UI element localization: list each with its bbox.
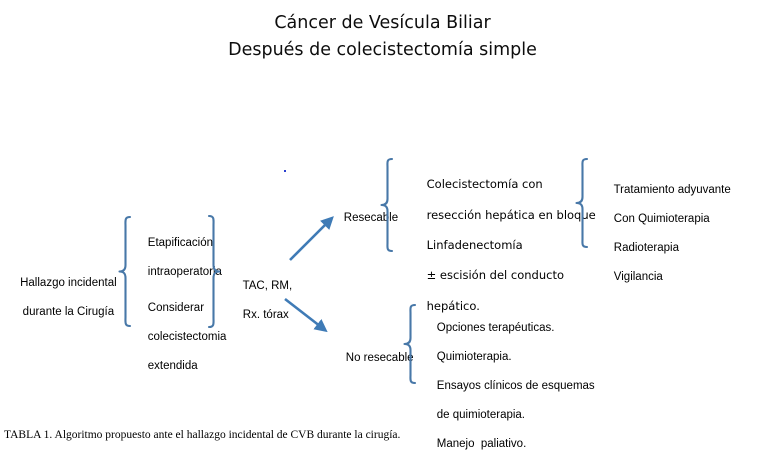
unresectable-line-3: Ensayos clínicos de esquemas bbox=[437, 380, 595, 392]
unresectable-line-4: de quimioterapia. bbox=[437, 409, 525, 421]
figure-caption: TABLA 1. Algoritmo propuesto ante el hal… bbox=[4, 428, 400, 442]
node-extended-cholecystectomy-line-2: colecistectomia bbox=[148, 331, 227, 343]
brace-start-to-intraop bbox=[118, 215, 132, 328]
brace-intraop-to-imaging bbox=[207, 214, 221, 329]
node-adjuvant-treatment: Tratamiento adyuvante Con Quimioterapia … bbox=[601, 168, 761, 299]
label-unresectable: No resecable bbox=[333, 336, 411, 380]
node-incidental-finding: Hallazgo incidental durante la Cirugía bbox=[4, 261, 120, 334]
node-incidental-finding-line-1: Hallazgo incidental bbox=[20, 277, 117, 289]
resectable-detail-line-2: resección hepática en bloque bbox=[427, 208, 596, 222]
brace-unresectable-to-options bbox=[403, 303, 417, 385]
arrow-to-unresectable bbox=[283, 297, 335, 339]
node-intraoperative-staging: Etapificación intraoperatoria bbox=[135, 221, 240, 294]
stray-dot-artifact bbox=[284, 170, 286, 172]
node-extended-cholecystectomy-line-1: Considerar bbox=[148, 302, 204, 314]
title-line-1: Cáncer de Vesícula Biliar bbox=[0, 10, 765, 37]
title-line-2: Después de colecistectomía simple bbox=[0, 37, 765, 64]
node-imaging-workup-line-2: Rx. tórax bbox=[243, 309, 289, 321]
node-intraoperative-staging-line-1: Etapificación bbox=[148, 237, 213, 249]
unresectable-line-1: Opciones terapéuticas. bbox=[437, 322, 555, 334]
brace-surgery-to-adjuvant bbox=[575, 157, 589, 249]
node-resectable-surgery-details: Colecistectomía con resección hepática e… bbox=[412, 162, 592, 329]
node-imaging-workup-line-1: TAC, RM, bbox=[243, 280, 293, 292]
resectable-detail-line-1: Colecistectomía con bbox=[427, 177, 543, 191]
node-unresectable-options: Opciones terapéuticas. Quimioterapia. En… bbox=[424, 306, 614, 466]
node-extended-cholecystectomy: Considerar colecistectomia extendida bbox=[135, 286, 240, 388]
brace-resectable-to-surgery bbox=[380, 157, 394, 253]
adjuvant-line-2: Con Quimioterapia bbox=[614, 213, 710, 225]
resectable-detail-line-3: Linfadenectomía bbox=[427, 238, 523, 252]
unresectable-line-2: Quimioterapia. bbox=[437, 351, 512, 363]
adjuvant-line-1: Tratamiento adyuvante bbox=[614, 184, 731, 196]
unresectable-line-5: Manejo paliativo. bbox=[437, 438, 527, 450]
node-incidental-finding-line-2: durante la Cirugía bbox=[23, 306, 114, 318]
adjuvant-line-4: Vigilancia bbox=[614, 271, 663, 283]
page-title: Cáncer de Vesícula Biliar Después de col… bbox=[0, 10, 765, 64]
flowchart-canvas: Cáncer de Vesícula Biliar Después de col… bbox=[0, 0, 765, 457]
node-extended-cholecystectomy-line-3: extendida bbox=[148, 360, 198, 372]
adjuvant-line-3: Radioterapia bbox=[614, 242, 679, 254]
resectable-detail-line-4: ± escisión del conducto bbox=[427, 268, 564, 282]
